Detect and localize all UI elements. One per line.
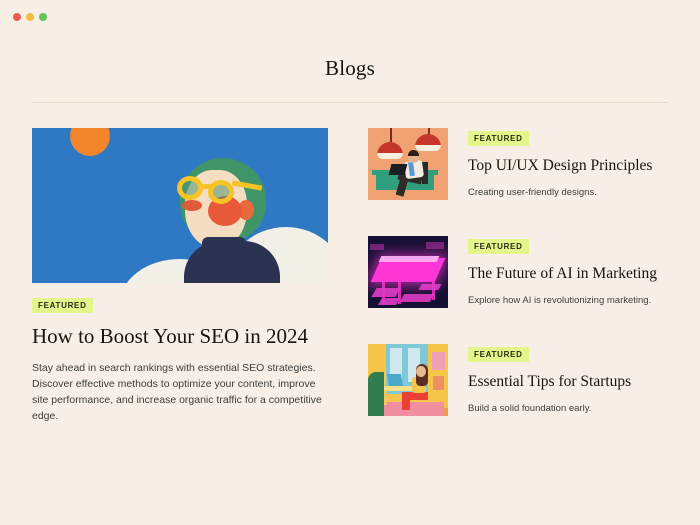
post-thumbnail [368, 128, 448, 200]
header-divider [32, 102, 668, 103]
side-post-list: FEATURED Top UI/UX Design Principles Cre… [368, 128, 668, 416]
post-description: Creating user-friendly designs. [468, 186, 668, 199]
floor-fragment-shape [378, 298, 400, 305]
post-thumbnail [368, 344, 448, 416]
post-title[interactable]: Top UI/UX Design Principles [468, 155, 668, 177]
maximize-window-icon[interactable] [39, 13, 47, 21]
post-text-block: FEATURED Essential Tips for Startups Bui… [468, 344, 668, 416]
post-title[interactable]: The Future of AI in Marketing [468, 263, 668, 285]
list-item[interactable]: FEATURED Essential Tips for Startups Bui… [368, 344, 668, 416]
glasses-left-lens [177, 176, 203, 200]
glasses-right-lens [208, 180, 234, 204]
floor-fragment-shape [371, 288, 400, 297]
background-fragment-shape [426, 242, 444, 249]
list-item[interactable]: FEATURED The Future of AI in Marketing E… [368, 236, 668, 308]
post-description: Explore how AI is revolutionizing market… [468, 294, 668, 307]
person-hair-shape [408, 150, 419, 156]
featured-post-title[interactable]: How to Boost Your SEO in 2024 [32, 324, 328, 348]
traffic-light-buttons [13, 13, 47, 21]
glasses-bridge-shape [201, 184, 211, 189]
featured-post-card[interactable]: FEATURED How to Boost Your SEO in 2024 S… [32, 128, 328, 425]
sun-shape [70, 128, 110, 156]
featured-post-description: Stay ahead in search rankings with essen… [32, 361, 328, 425]
lamp-shade-right-shape [415, 134, 441, 147]
lamp-cord-left-shape [390, 128, 392, 142]
featured-badge: FEATURED [468, 347, 529, 362]
person-shin-shape [402, 394, 410, 410]
laptop-shape [387, 374, 403, 386]
featured-badge: FEATURED [468, 239, 529, 254]
featured-post-image [32, 128, 328, 283]
wall-art-shape [433, 376, 444, 390]
floor-fragment-shape [400, 294, 435, 302]
minimize-window-icon[interactable] [26, 13, 34, 21]
lamp-shade-left-shape [377, 142, 403, 155]
post-text-block: FEATURED Top UI/UX Design Principles Cre… [468, 128, 668, 200]
featured-badge: FEATURED [468, 131, 529, 146]
featured-badge: FEATURED [32, 298, 93, 313]
page-title: Blogs [0, 56, 700, 81]
list-item[interactable]: FEATURED Top UI/UX Design Principles Cre… [368, 128, 668, 200]
window-titlebar [0, 0, 700, 34]
close-window-icon[interactable] [13, 13, 21, 21]
laptop-shape [389, 164, 408, 175]
desk-leg-shape [384, 391, 387, 405]
post-title[interactable]: Essential Tips for Startups [468, 371, 668, 393]
person-head-shape [416, 366, 426, 377]
browser-window: Blogs FEATURED How to [0, 0, 700, 525]
blog-content: FEATURED How to Boost Your SEO in 2024 S… [32, 128, 668, 468]
post-thumbnail [368, 236, 448, 308]
wall-art-shape [432, 352, 445, 370]
floor-fragment-shape [418, 284, 441, 290]
post-description: Build a solid foundation early. [468, 402, 668, 415]
lips-shape [182, 200, 202, 211]
post-text-block: FEATURED The Future of AI in Marketing E… [468, 236, 668, 308]
background-fragment-shape [370, 244, 384, 250]
neon-table-edge-shape [379, 256, 440, 262]
plant-shape [368, 372, 384, 416]
torso-shape [184, 241, 280, 283]
